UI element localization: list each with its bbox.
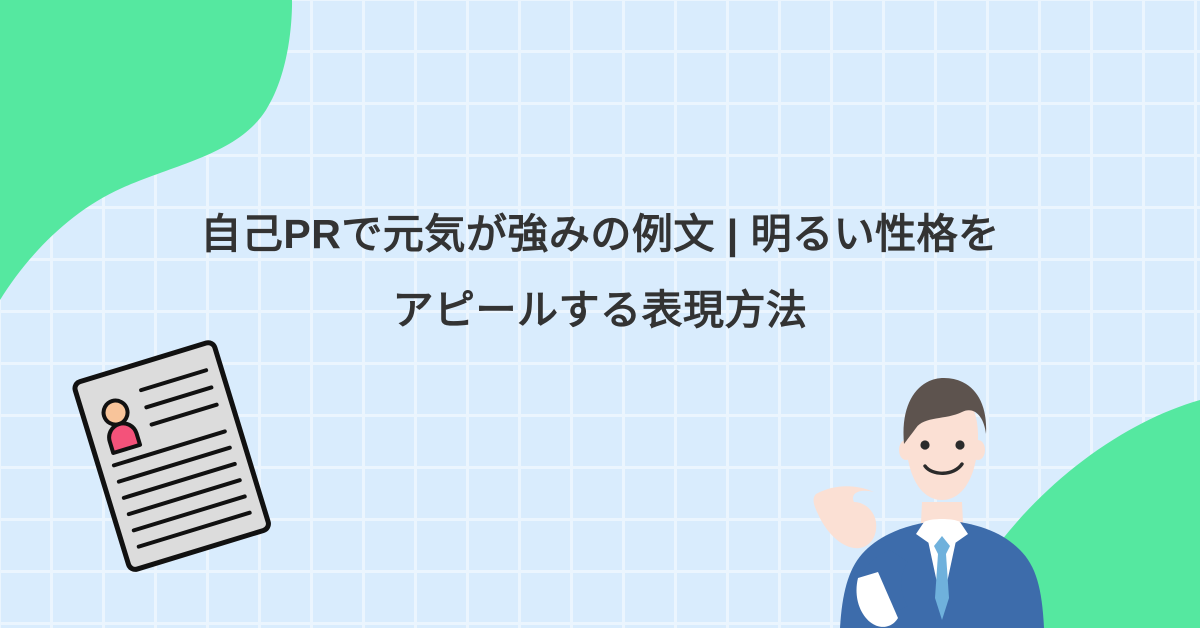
resume-document-illustration: [52, 332, 292, 582]
page-title-line-2: アピールする表現方法: [0, 272, 1200, 348]
page-title: 自己PRで元気が強みの例文 | 明るい性格を アピールする表現方法: [0, 196, 1200, 348]
person-ear-right: [971, 440, 985, 460]
person-eye-left: [920, 440, 929, 449]
person-eye-right: [955, 440, 964, 449]
thumbnail-canvas: 自己PRで元気が強みの例文 | 明るい性格を アピールする表現方法: [0, 0, 1200, 628]
businessman-illustration: [812, 372, 1072, 628]
person-hand: [814, 486, 877, 548]
person-ear-left: [899, 440, 913, 460]
page-title-line-1: 自己PRで元気が強みの例文 | 明るい性格を: [0, 196, 1200, 272]
